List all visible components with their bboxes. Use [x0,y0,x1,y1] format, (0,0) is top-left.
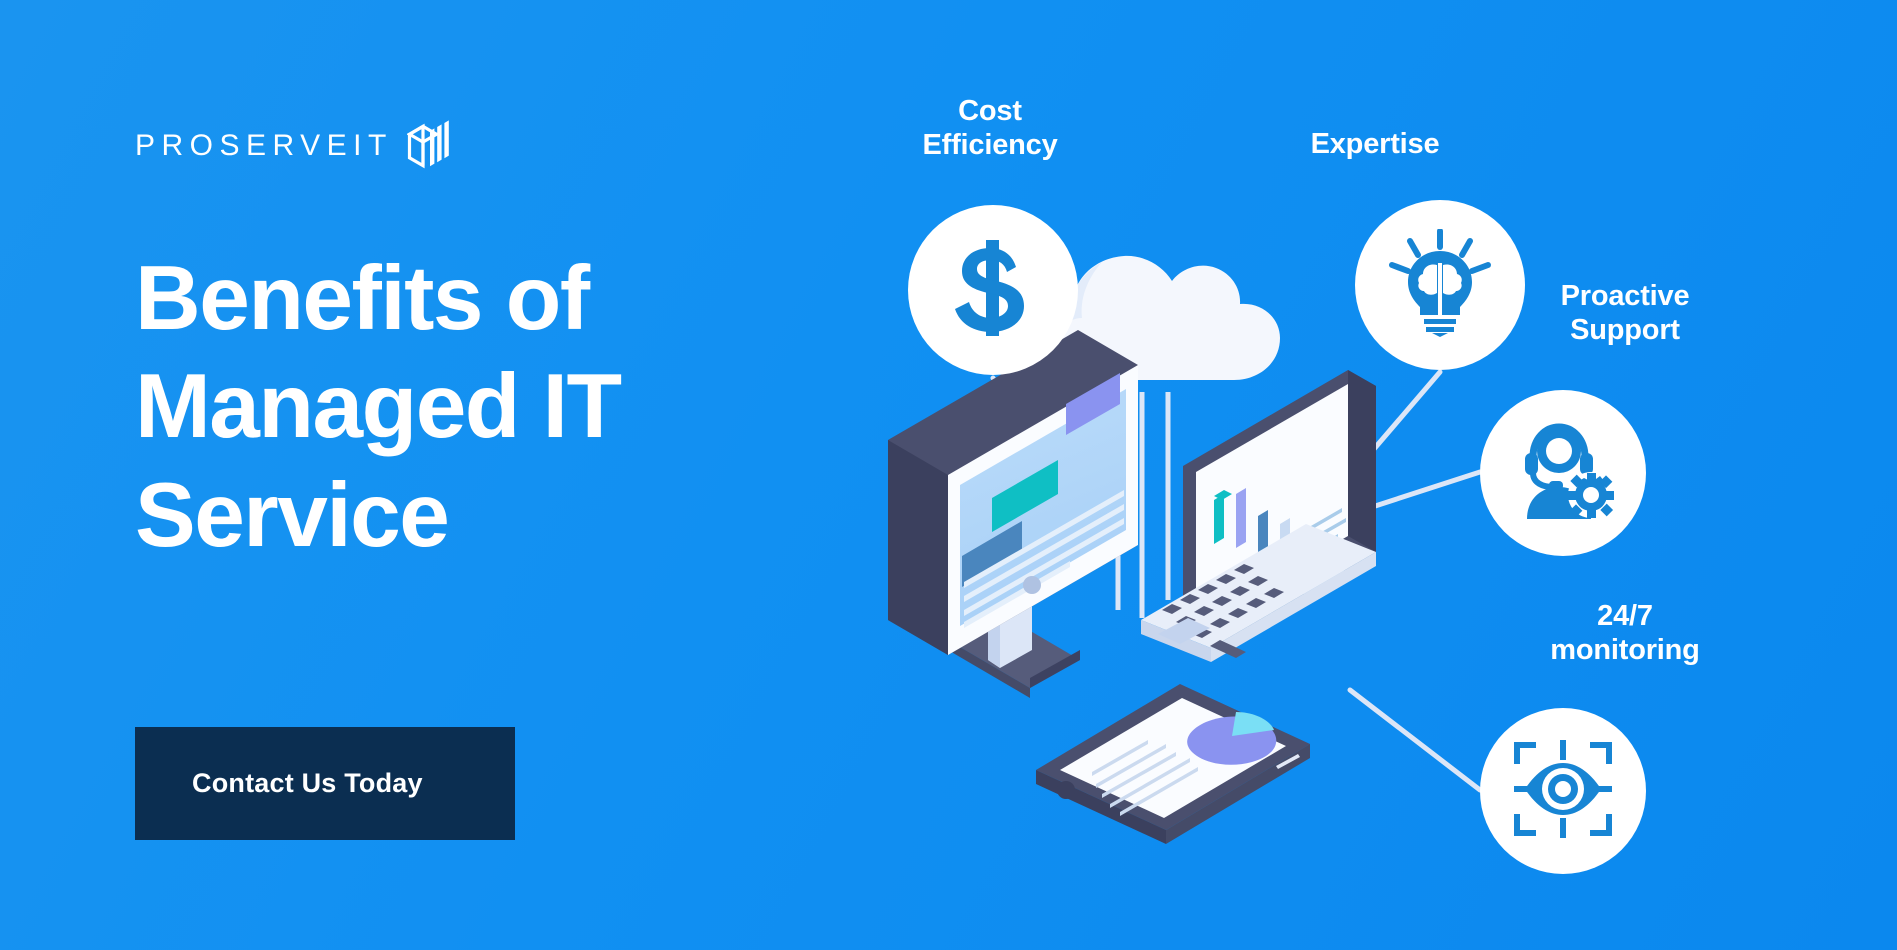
feature-icon-expertise[interactable] [1355,200,1525,370]
feature-icon-proactive-support[interactable] [1480,390,1646,556]
hexagon-cube-logo-icon [407,120,453,172]
page-title: Benefits of Managed IT Service [135,245,795,570]
feature-label-proactive-support: Proactive Support [1490,280,1760,347]
gear-icon [1568,472,1614,518]
eye-scan-focus-icon [1513,739,1613,844]
contact-us-button[interactable]: Contact Us Today [135,727,515,840]
marketing-banner: PROSERVEIT Benefits of Managed IT Servic… [0,0,1897,950]
brand-wordmark: PROSERVEIT [135,131,393,161]
brand-logo[interactable]: PROSERVEIT [135,120,453,172]
lightbulb-brain-icon [1388,229,1492,342]
feature-label-expertise: Expertise [1245,128,1505,162]
feature-label-cost-efficiency: Cost Efficiency [860,95,1120,162]
feature-icon-monitoring[interactable] [1480,708,1646,874]
left-content-panel: PROSERVEIT Benefits of Managed IT Servic… [130,0,830,950]
feature-label-monitoring: 24/7 monitoring [1490,600,1760,667]
desktop-monitor-graphic [888,330,1138,698]
tablet-graphic [1036,684,1310,844]
laptop-graphic [1141,370,1376,662]
benefits-illustration: Cost Efficiency Expertise Proactive Supp… [880,0,1897,950]
headset-agent-gear-icon [1511,423,1615,524]
dollar-sign-icon [950,240,1036,341]
contact-us-label: Contact Us Today [135,768,423,799]
feature-icon-cost-efficiency[interactable] [908,205,1078,375]
